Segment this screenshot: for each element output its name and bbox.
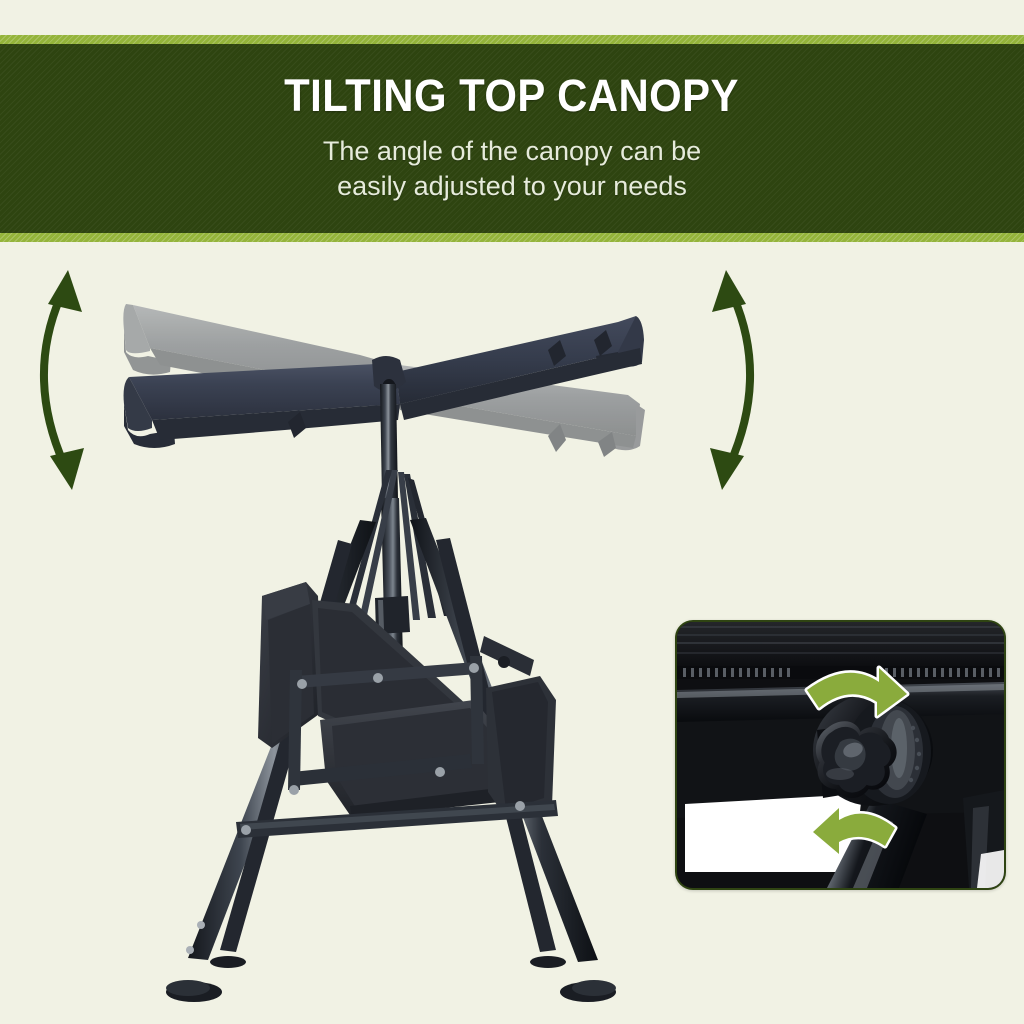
- knob-closeup-image: [677, 622, 1004, 888]
- infographic-canvas: TILTING TOP CANOPY The angle of the cano…: [0, 0, 1024, 1024]
- knob-closeup-inset: [675, 620, 1006, 890]
- tilt-range-arrow-left: [24, 258, 144, 498]
- tilt-range-arrow-right: [650, 258, 770, 498]
